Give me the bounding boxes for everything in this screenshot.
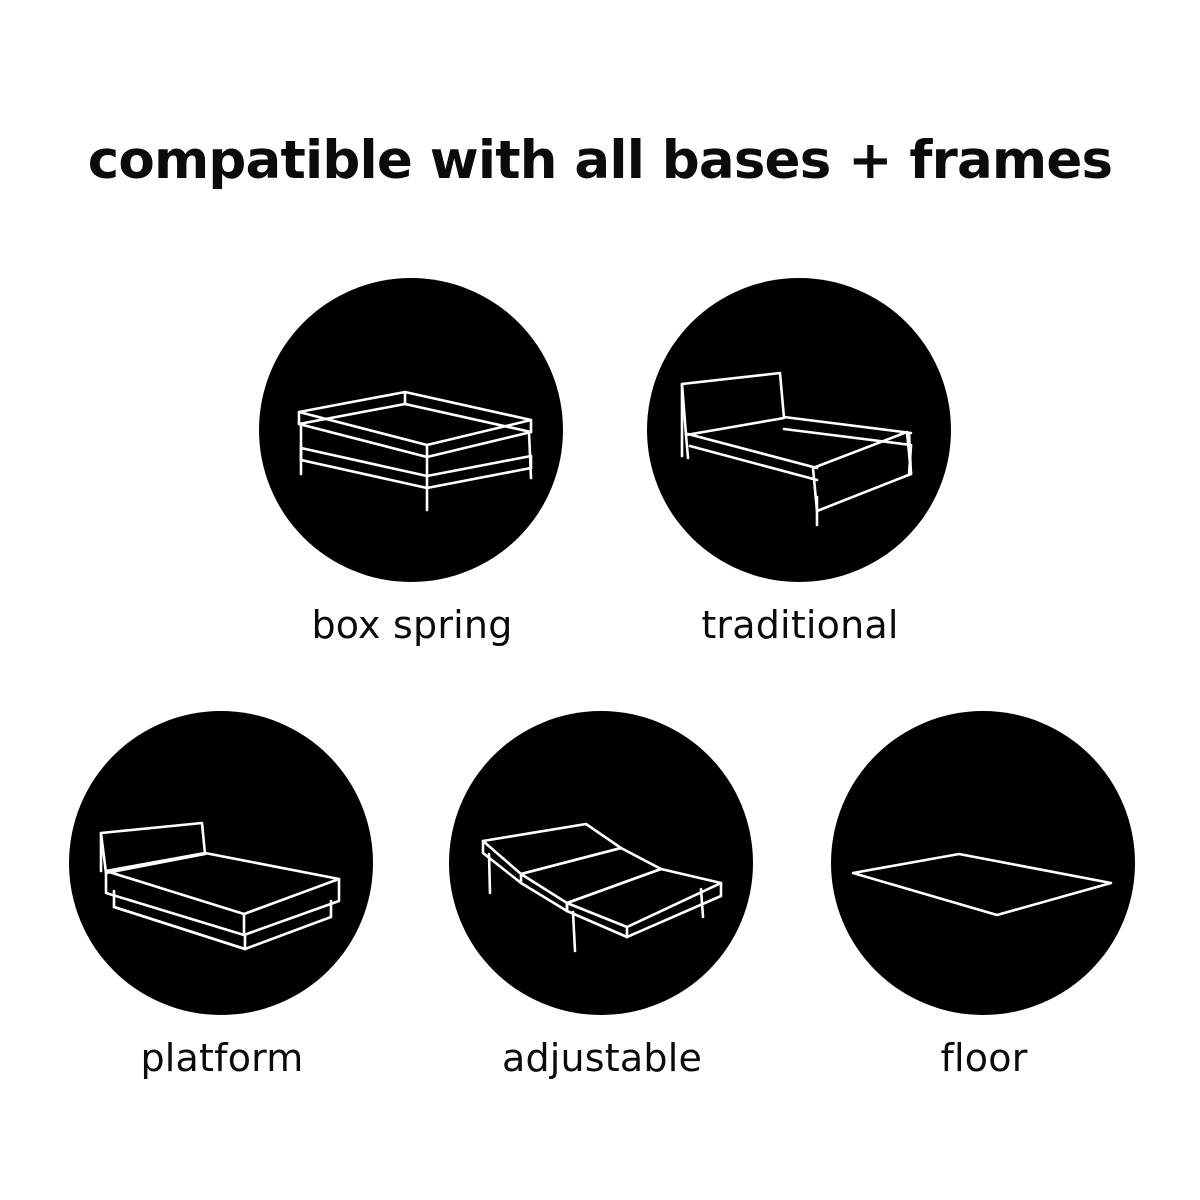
adjustable-disc: [449, 711, 753, 1015]
traditional-disc: [647, 278, 951, 582]
adjustable-bed-base-icon: [449, 711, 753, 1015]
compatibility-item-adjustable[interactable]: adjustable: [449, 711, 755, 1077]
floor-slat-grid-icon: [831, 711, 1135, 1015]
caption-box-spring: box spring: [259, 606, 565, 644]
caption-platform: platform: [69, 1039, 375, 1077]
platform-bed-icon: [69, 711, 373, 1015]
compatibility-row-top: box spring: [0, 278, 1200, 678]
caption-adjustable: adjustable: [449, 1039, 755, 1077]
compatibility-infographic: compatible with all bases + frames: [0, 0, 1200, 1200]
caption-traditional: traditional: [647, 606, 953, 644]
compatibility-item-box-spring[interactable]: box spring: [259, 278, 565, 644]
platform-disc: [69, 711, 373, 1015]
caption-floor: floor: [831, 1039, 1137, 1077]
floor-disc: [831, 711, 1135, 1015]
box-spring-disc: [259, 278, 563, 582]
compatibility-row-bottom: platform: [0, 711, 1200, 1111]
compatibility-item-platform[interactable]: platform: [69, 711, 375, 1077]
box-spring-bed-icon: [259, 278, 563, 582]
traditional-bed-frame-icon: [647, 278, 951, 582]
page-title: compatible with all bases + frames: [0, 133, 1200, 189]
compatibility-item-traditional[interactable]: traditional: [647, 278, 953, 644]
compatibility-item-floor[interactable]: floor: [831, 711, 1137, 1077]
